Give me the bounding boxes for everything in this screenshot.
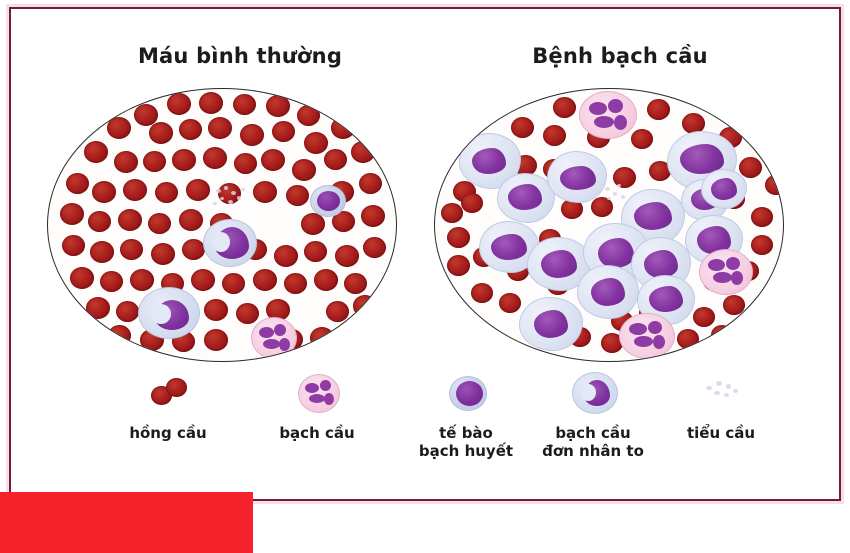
red-blood-cell-icon: [93, 366, 243, 424]
panel-title-normal: Máu bình thường: [90, 44, 390, 68]
cell-neutrophil: [579, 91, 637, 139]
cell-lymphocyte: [310, 185, 346, 217]
legend-label: tiểu cầu: [646, 424, 796, 442]
cell-lymphoblast: [547, 151, 607, 203]
cell-lymphoblast: [701, 169, 747, 209]
cell-monocyte: [138, 287, 200, 339]
cell-neutrophil: [699, 249, 753, 295]
blood-sample-leukemia: [434, 88, 784, 362]
accent-block: [0, 492, 253, 553]
cell-lymphoblast: [519, 297, 583, 351]
legend-item-red-blood-cell: hồng cầu: [93, 366, 243, 442]
legend: hồng cầu bạch cầu tế bào bạch huyết: [9, 366, 841, 486]
cell-lymphoblast: [577, 265, 639, 319]
cell-neutrophil: [251, 317, 297, 359]
legend-label: hồng cầu: [93, 424, 243, 442]
cell-neutrophil: [619, 313, 675, 359]
blood-sample-normal: [47, 88, 397, 362]
cell-monocyte: [203, 219, 257, 267]
white-blood-cell-icon: [242, 366, 392, 424]
legend-item-platelet: tiểu cầu: [646, 366, 796, 442]
legend-label: bạch cầu: [242, 424, 392, 442]
panel-title-leukemia: Bệnh bạch cầu: [470, 44, 770, 68]
legend-item-white-blood-cell: bạch cầu: [242, 366, 392, 442]
platelet-icon: [646, 366, 796, 424]
figure-canvas: Máu bình thường Bệnh bạch cầu: [0, 0, 850, 553]
